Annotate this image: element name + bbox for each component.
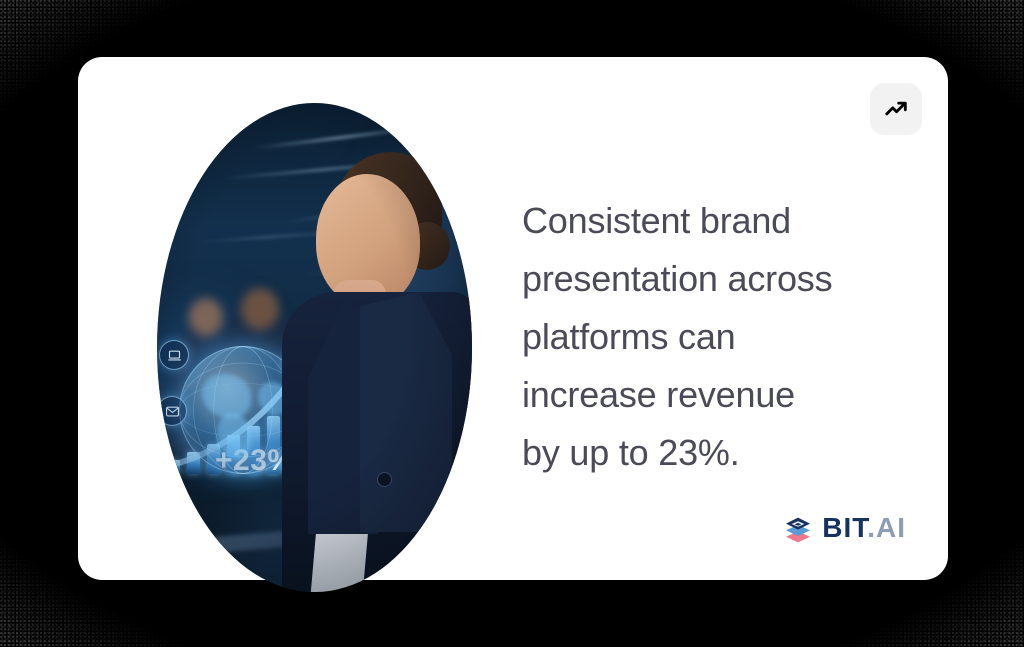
- hero-photo-image: +23%: [157, 103, 472, 592]
- logo-name-primary: BIT: [822, 512, 867, 543]
- logo-wordmark: BIT.AI: [822, 514, 906, 542]
- trending-up-icon: [883, 96, 909, 122]
- logo-name-dot: .: [867, 512, 876, 543]
- layered-stack-icon: [782, 512, 814, 544]
- hero-photo: +23%: [157, 103, 472, 592]
- trending-up-badge[interactable]: [870, 83, 922, 135]
- stage: +23%: [0, 0, 1024, 647]
- stat-card: +23%: [78, 57, 948, 580]
- logo-name-secondary: AI: [876, 512, 906, 543]
- headline-text: Consistent brand presentation across pla…: [522, 192, 912, 482]
- photo-vignette: [157, 103, 472, 592]
- bit-ai-logo[interactable]: BIT.AI: [782, 512, 906, 544]
